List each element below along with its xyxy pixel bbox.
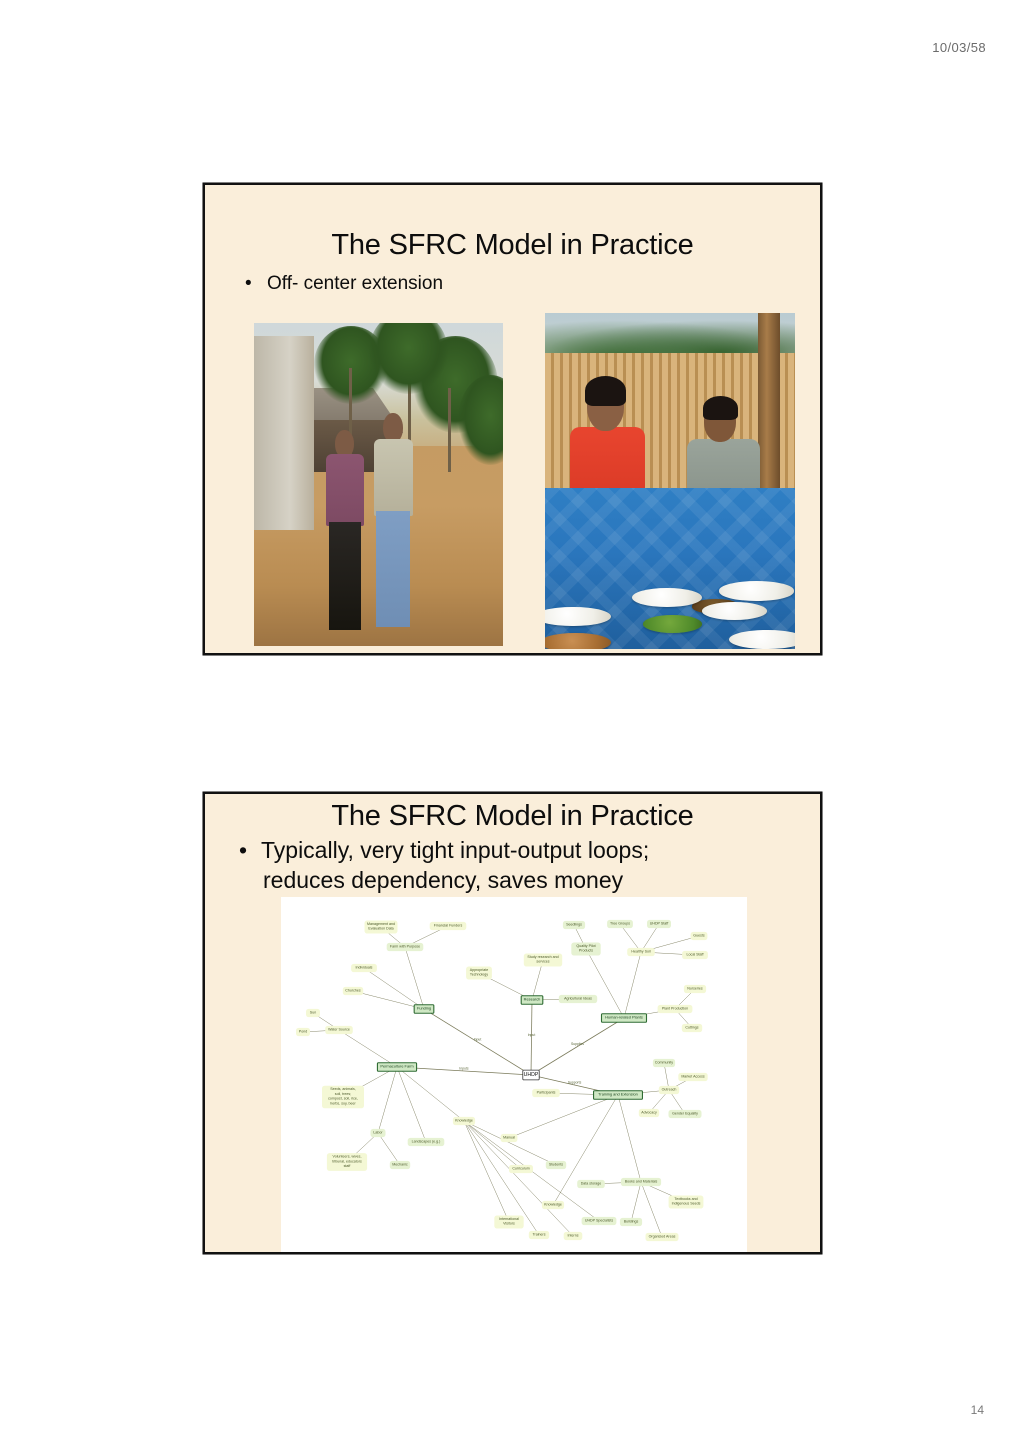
mind-map-leaf-node: Landscapes (e.g.) [408, 1138, 445, 1146]
torso [326, 454, 364, 526]
torso [374, 439, 414, 516]
node-label: Textbooks andIndigenous Seeds [672, 1197, 701, 1206]
mind-map-leaf-node: InternationalVisitors [494, 1216, 523, 1229]
node-label: Participants [537, 1090, 556, 1094]
node-label: Local Staff [687, 952, 704, 956]
mind-map-leaf-node: Mechanic [390, 1161, 410, 1169]
mind-map-leaf-node: Outreach [659, 1086, 679, 1094]
mind-map-nodes: Management andEvaluation DataFinancial F… [296, 920, 708, 1241]
node-label: Interns [568, 1233, 579, 1237]
node-label: AppropriateTechnology [470, 968, 489, 977]
node-label: Agricultural Ideas [564, 996, 592, 1000]
mind-map-edge [618, 1095, 641, 1182]
node-label: Manual [503, 1135, 515, 1139]
mind-map-leaf-node: Nurseries [684, 985, 706, 993]
mind-map-edge [378, 1067, 397, 1133]
mind-map-leaf-node: Plant Production [658, 1005, 693, 1013]
node-label: Human-related Plants [605, 1014, 643, 1019]
mind-map-leaf-node: Organized Areas [646, 1233, 679, 1241]
mind-map-leaf-node: Data storage [577, 1180, 605, 1188]
person-figure [369, 413, 419, 626]
node-label: Trainers [532, 1232, 545, 1236]
node-label: Research [524, 996, 541, 1001]
mind-map-leaf-node: Sun [306, 1009, 320, 1017]
mind-map-edge [397, 1067, 426, 1142]
mind-map-leaf-node: Participants [532, 1089, 560, 1097]
plate-of-rice [729, 630, 795, 649]
mind-map-leaf-node: Farm with Purpose [387, 943, 424, 951]
mind-map-edge [464, 1121, 556, 1165]
node-label: Healthy Soil [631, 949, 650, 953]
mind-map-leaf-node: Volunteers, wives,tribunal, educatorssta… [327, 1153, 367, 1171]
slide-1-bullet-0: Off- center extension [267, 272, 820, 296]
mind-map-leaf-node: Gender Equality [669, 1110, 702, 1118]
legs [376, 511, 410, 626]
mind-map-edge [553, 1095, 618, 1205]
node-label: UHDP [524, 1072, 539, 1078]
mind-map-edge [531, 1000, 532, 1075]
mind-map-edge [641, 1182, 662, 1237]
mind-map-main-node: Permaculture Farm [377, 1063, 416, 1072]
node-label: Funding [417, 1005, 431, 1010]
plate-of-rice [719, 581, 795, 600]
node-label: Knowledge [455, 1118, 473, 1122]
mind-map-leaf-node: Advocacy [639, 1109, 659, 1117]
mind-map-leaf-node: Pond [296, 1028, 310, 1036]
slide-2-bullet-list: Typically, very tight input-output loops… [261, 835, 820, 895]
node-label: Books and Materials [625, 1179, 658, 1183]
node-label: Nurseries [687, 986, 703, 990]
node-label: Seeds, animals,soil, trees;compost, soil… [328, 1087, 358, 1105]
node-label: Cuttings [685, 1025, 698, 1029]
mind-map-edge-label: Supports [568, 1081, 582, 1085]
person-figure [321, 430, 368, 630]
mind-map-leaf-node: Manual [501, 1134, 518, 1142]
mind-map-leaf-node: Management andEvaluation Data [365, 921, 398, 934]
node-label: Pond [299, 1029, 307, 1033]
node-label: Financial Funders [434, 923, 463, 927]
node-label: Labor [373, 1130, 383, 1134]
mind-map-edge [509, 1095, 618, 1138]
mind-map-leaf-node: Quality PilotProducts [571, 943, 600, 956]
node-label: Curriculum [512, 1166, 529, 1170]
page-number: 14 [971, 1403, 984, 1417]
palm-trunk [448, 388, 451, 472]
node-label: Sun [310, 1010, 316, 1014]
mind-map-leaf-node: Books and Materials [621, 1178, 661, 1186]
node-label: Mechanic [392, 1162, 408, 1166]
concrete-wall [254, 336, 314, 530]
mind-map-leaf-node: Curriculum [509, 1165, 533, 1173]
mind-map-edge [397, 1067, 464, 1121]
legs [329, 522, 361, 630]
mind-map-leaf-node: Agricultural Ideas [559, 995, 597, 1003]
node-label: UHDP Specialists [585, 1218, 613, 1222]
mind-map-edge [631, 1182, 641, 1222]
mind-map-leaf-node: Guests [691, 932, 708, 940]
mind-map-leaf-node: Knowledge [453, 1117, 475, 1125]
mind-map-leaf-node: UHDP Staff [647, 920, 671, 928]
mind-map-leaf-node: Trainers [529, 1231, 549, 1239]
node-label: Tree Groups [610, 921, 630, 925]
mind-map-edge [586, 949, 624, 1018]
mind-map-main-node: Research [521, 996, 543, 1005]
page-date: 10/03/58 [932, 40, 986, 55]
node-label: Knowledge [544, 1202, 562, 1206]
mind-map-leaf-node: Churches [343, 987, 363, 995]
mind-map-leaf-node: Interns [564, 1232, 583, 1240]
mind-map-leaf-node: Cuttings [682, 1024, 702, 1032]
plate-of-rice [632, 588, 702, 607]
mind-map-edge [339, 1030, 397, 1067]
mind-map-edge [364, 968, 424, 1009]
mind-map-edge [464, 1121, 521, 1169]
mind-map-leaf-node: Individuals [351, 964, 377, 972]
slide-1-bullet-list: Off- center extension [267, 272, 820, 296]
bullet-line-1: Typically, very tight input-output loops… [261, 837, 649, 863]
hair [703, 396, 738, 420]
node-label: Management andEvaluation Data [367, 922, 395, 931]
node-label: Outreach [662, 1087, 677, 1091]
mind-map-leaf-node: Students [546, 1161, 566, 1169]
mind-map-edge [378, 1133, 400, 1165]
node-label: Students [549, 1162, 563, 1166]
mind-map-edge [624, 952, 641, 1018]
node-label: UHDP Staff [650, 921, 668, 925]
mind-map-leaf-node: Local Staff [682, 951, 708, 959]
mind-map-svg: InputInputSuppliesInputsSupports Managem… [281, 897, 747, 1252]
mind-map-edge [620, 924, 641, 952]
node-label: Advocacy [641, 1110, 657, 1114]
mind-map-main-node: Funding [414, 1005, 434, 1014]
mind-map-center-node: UHDP [523, 1070, 539, 1080]
slide-2-title: The SFRC Model in Practice [205, 800, 820, 833]
node-label: Training and Extension [598, 1091, 638, 1096]
node-label: Seedlings [566, 922, 582, 926]
mind-map-main-node: Training and Extension [594, 1091, 643, 1100]
slide-2-bullet-0: Typically, very tight input-output loops… [261, 835, 820, 895]
node-label: Landscapes (e.g.) [412, 1139, 441, 1143]
printed-slide-handout-page: 10/03/58 The SFRC Model in Practice Off-… [0, 0, 1024, 1449]
node-label: Farm with Purpose [390, 944, 420, 948]
node-label: Plant Production [662, 1006, 688, 1010]
mind-map-leaf-node: Water Source [325, 1026, 353, 1034]
node-label: Water Source [328, 1027, 350, 1031]
node-label: Quality PilotProducts [576, 944, 595, 953]
mind-map-leaf-node: Community [653, 1059, 675, 1067]
mind-map-edge [424, 1009, 531, 1075]
village-extension-visit-photo [254, 323, 503, 646]
mind-map-leaf-node: Seeds, animals,soil, trees;compost, soil… [322, 1086, 364, 1109]
mind-map-edge [531, 1018, 624, 1075]
mind-map-leaf-node: Market Access [678, 1073, 707, 1081]
mind-map-main-node: Human-related Plants [602, 1014, 647, 1023]
shared-meal-photo [545, 313, 795, 649]
plate-of-greens [643, 615, 702, 633]
table-with-blue-cloth [545, 488, 795, 649]
mind-map-leaf-node: Labor [371, 1129, 386, 1137]
node-label: Organized Areas [649, 1234, 676, 1238]
plate-of-nuts [545, 633, 611, 649]
node-label: Community [655, 1060, 673, 1064]
mind-map-leaf-node: AppropriateTechnology [466, 967, 492, 980]
mind-map-leaf-node: Seedlings [563, 921, 585, 929]
mind-map-edge-label: Inputs [459, 1067, 469, 1071]
mind-map-leaf-node: Knowledge [542, 1201, 564, 1209]
node-label: Buildings [624, 1219, 639, 1223]
node-label: Data storage [581, 1181, 602, 1185]
slide-1: The SFRC Model in Practice Off- center e… [203, 183, 822, 655]
node-label: Gender Equality [672, 1111, 698, 1115]
node-label: Guests [693, 933, 705, 937]
mind-map-edge [405, 947, 424, 1009]
mind-map-edge-label: Supplies [571, 1042, 584, 1046]
mind-map-leaf-node: UHDP Specialists [582, 1217, 617, 1225]
mind-map-leaf-node: Study research andservices [524, 954, 562, 967]
mind-map-leaf-node: Buildings [620, 1218, 642, 1226]
slide-2: The SFRC Model in Practice Typically, ve… [203, 792, 822, 1254]
mind-map-edge-label: Input [474, 1038, 482, 1042]
node-label: Permaculture Farm [380, 1063, 413, 1068]
node-label: Individuals [356, 965, 373, 969]
slide-1-photo-row [254, 323, 795, 649]
mind-map-leaf-node: Healthy Soil [627, 948, 655, 956]
uhdp-mind-map-image: InputInputSuppliesInputsSupports Managem… [281, 897, 747, 1252]
mind-map-edge [353, 991, 424, 1009]
mind-map-leaf-node: Tree Groups [607, 920, 633, 928]
mind-map-leaf-node: Textbooks andIndigenous Seeds [669, 1196, 704, 1209]
hair [585, 376, 626, 405]
node-label: Churches [345, 988, 361, 992]
plate-of-food [702, 602, 767, 620]
node-label: Market Access [681, 1074, 705, 1078]
slide-1-title: The SFRC Model in Practice [205, 229, 820, 262]
bullet-line-2: reduces dependency, saves money [263, 865, 820, 895]
mind-map-edge-label: Input [528, 1033, 536, 1037]
mind-map-leaf-node: Financial Funders [430, 922, 467, 930]
